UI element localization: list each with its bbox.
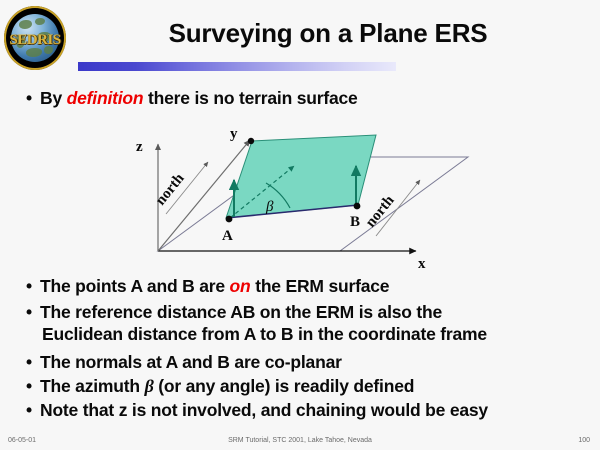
- north-arrow-right: north: [363, 180, 420, 236]
- bullet-2-post: the ERM surface: [251, 276, 390, 296]
- north-label-right: north: [363, 192, 398, 230]
- footer-center-text: SRM Tutorial, STC 2001, Lake Tahoe, Neva…: [0, 437, 600, 444]
- bullet-marker: [26, 400, 40, 421]
- x-axis-label: x: [418, 256, 426, 270]
- slide: SEDRIS Surveying on a Plane ERS By defin…: [0, 0, 600, 450]
- point-y-vertex: [248, 138, 254, 144]
- point-a: A: [222, 216, 233, 244]
- erm-plane: [226, 135, 376, 218]
- sedris-logo: SEDRIS: [4, 6, 66, 70]
- bullet-marker: [26, 352, 40, 373]
- bullet-item-1: By definition there is no terrain surfac…: [26, 88, 358, 109]
- bullet-2-emphasis: on: [230, 276, 251, 296]
- title-accent-bar: [78, 62, 396, 71]
- footer-page-number: 100: [578, 437, 590, 444]
- bullet-3-line-2: Euclidean distance from A to B in the co…: [42, 324, 487, 344]
- bullet-marker: [26, 302, 40, 323]
- bullet-marker: [26, 376, 40, 397]
- bullet-1-post: there is no terrain surface: [143, 88, 357, 108]
- bullet-3-line-1: The reference distance AB on the ERM is …: [40, 302, 442, 322]
- bullet-marker: [26, 276, 40, 297]
- bullet-5-beta-symbol: β: [145, 376, 154, 396]
- bullet-item-6: Note that z is not involved, and chainin…: [26, 400, 488, 421]
- z-axis-label: z: [136, 139, 143, 155]
- bullet-item-3: The reference distance AB on the ERM is …: [26, 302, 442, 323]
- logo-wordmark: SEDRIS: [4, 32, 66, 49]
- bullet-item-2: The points A and B are on the ERM surfac…: [26, 276, 389, 297]
- y-axis-label: y: [230, 126, 238, 142]
- plane-ers-diagram: x z y north north: [128, 118, 480, 270]
- bullet-6-text: Note that z is not involved, and chainin…: [40, 400, 488, 420]
- bullet-5-pre: The azimuth: [40, 376, 145, 396]
- x-axis: x: [158, 251, 426, 270]
- bullet-item-5: The azimuth β (or any angle) is readily …: [26, 376, 414, 397]
- bullet-2-pre: The points A and B are: [40, 276, 230, 296]
- north-arrow-left: north: [153, 162, 208, 214]
- point-a-label: A: [222, 228, 233, 244]
- bullet-1-pre: By: [40, 88, 67, 108]
- point-b-label: B: [350, 214, 360, 230]
- bullet-1-emphasis: definition: [67, 88, 144, 108]
- bullet-3-line-2-wrap: Euclidean distance from A to B in the co…: [42, 324, 487, 345]
- bullet-4-text: The normals at A and B are co-planar: [40, 352, 342, 372]
- bullet-5-post: (or any angle) is readily defined: [154, 376, 415, 396]
- bullet-item-4: The normals at A and B are co-planar: [26, 352, 342, 373]
- point-b: B: [350, 203, 360, 230]
- bullet-marker: [26, 88, 40, 109]
- beta-angle-label: β: [265, 199, 274, 215]
- page-title: Surveying on a Plane ERS: [78, 18, 578, 49]
